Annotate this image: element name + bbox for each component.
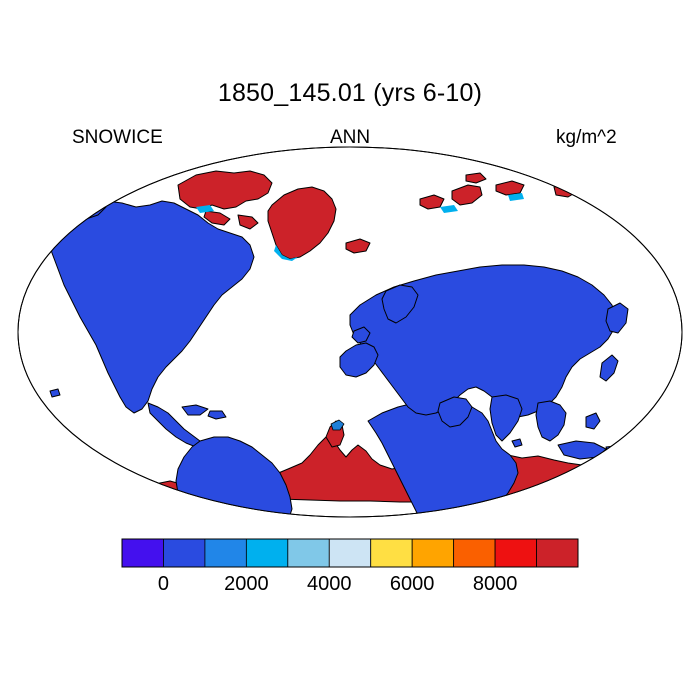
region-new-zealand [656, 511, 670, 520]
region-australia [562, 473, 644, 520]
colorbar-cell [205, 539, 246, 567]
colorbar-cell [329, 539, 370, 567]
region-hawaii [50, 389, 60, 397]
colorbar-cell [495, 539, 536, 567]
map-panel [10, 145, 690, 520]
colorbar-cell [246, 539, 287, 567]
colorbar: 02000400060008000 [0, 530, 700, 610]
colorbar-cell [454, 539, 495, 567]
colorbar-cell [122, 539, 163, 567]
colorbar-tick-label: 2000 [224, 573, 269, 595]
colorbar-tick-label: 8000 [473, 573, 518, 595]
colorbar-cell [163, 539, 204, 567]
colorbar-cell [371, 539, 412, 567]
colorbar-panel: 02000400060008000 [0, 530, 700, 610]
colorbar-tick-labels: 02000400060008000 [158, 573, 517, 595]
world-map [10, 145, 690, 520]
page-title: 1850_145.01 (yrs 6-10) [0, 79, 700, 108]
region-madagascar [520, 491, 538, 519]
colorbar-tick-label: 6000 [390, 573, 435, 595]
climate-map-figure: 1850_145.01 (yrs 6-10) SNOWICE ANN kg/m^… [0, 0, 700, 700]
colorbar-cell [412, 539, 453, 567]
colorbar-tick-label: 4000 [307, 573, 352, 595]
colorbar-cell [537, 539, 578, 567]
colorbar-cells [122, 539, 578, 567]
colorbar-tick-label: 0 [158, 573, 169, 595]
colorbar-cell [288, 539, 329, 567]
